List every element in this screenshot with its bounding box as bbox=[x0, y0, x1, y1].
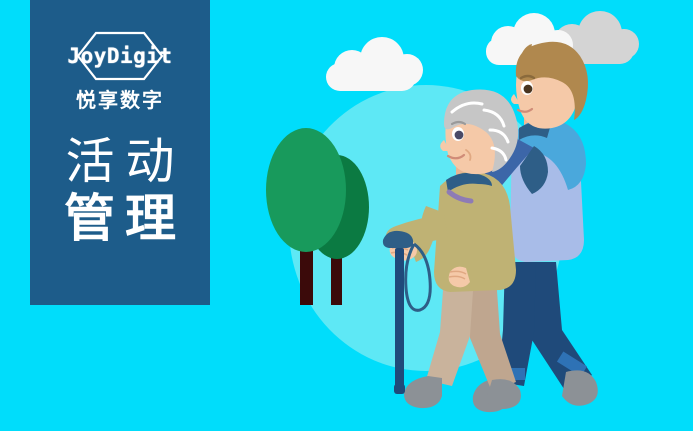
brand-panel: JoyDigit 悦享数字 活动 管理 bbox=[30, 0, 210, 305]
brand-name-cn: 悦享数字 bbox=[76, 91, 164, 111]
woman-pupil bbox=[455, 131, 464, 140]
logo-wordmark: JoyDigit bbox=[67, 44, 172, 68]
page-title-line-2: 管理 bbox=[54, 192, 186, 246]
logo-lockup: JoyDigit bbox=[52, 30, 188, 82]
cane-shaft bbox=[395, 248, 404, 388]
page-title-line-1: 活动 bbox=[54, 137, 185, 188]
cane-tip bbox=[394, 384, 405, 394]
illustration-canvas: JoyDigit 悦享数字 活动 管理 bbox=[0, 0, 693, 431]
man-pupil bbox=[524, 85, 533, 94]
